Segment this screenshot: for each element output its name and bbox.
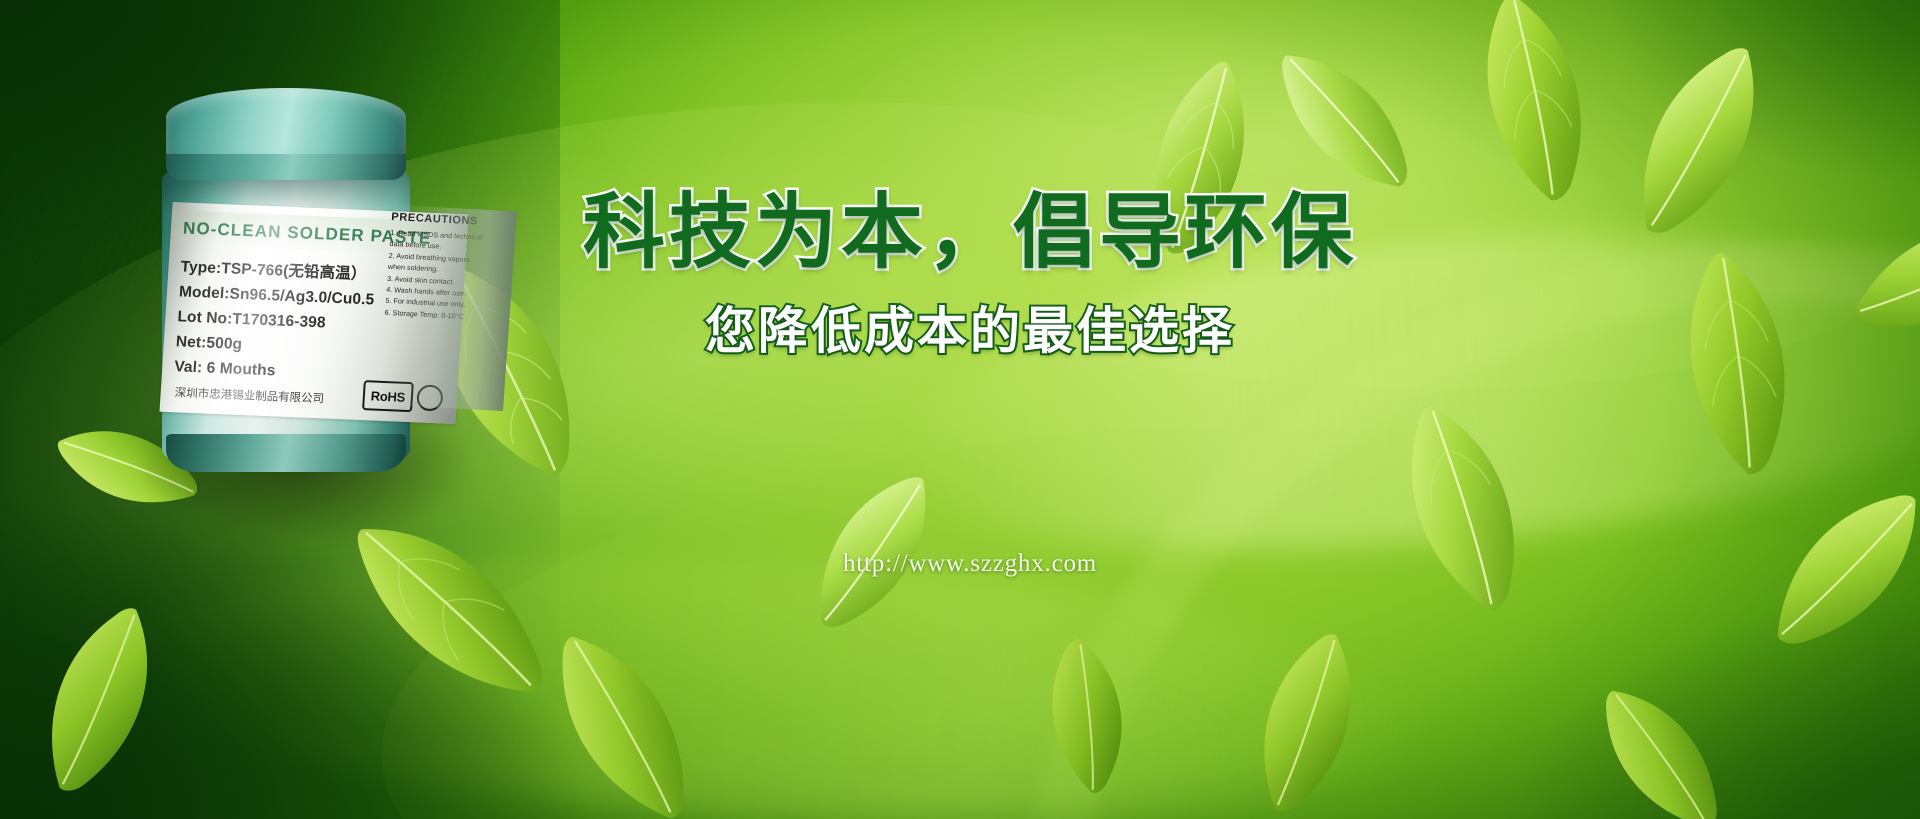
- jar-bottom: [166, 434, 406, 472]
- page-title: 科技为本，倡导环保: [560, 190, 1380, 275]
- promotional-banner: NO-CLEAN SOLDER PASTE Type:TSP-766(无铅高温）…: [0, 0, 1920, 819]
- recycle-circle-icon: [416, 384, 444, 411]
- rohs-badge: RoHS: [362, 380, 414, 412]
- page-subtitle: 您降低成本的最佳选择: [560, 291, 1380, 363]
- website-url[interactable]: http://www.szzghx.com: [560, 550, 1380, 578]
- precautions-block: PRECAUTIONS 1. Read MSDS and technical d…: [384, 211, 511, 324]
- jar-lid-rim: [166, 154, 406, 180]
- leaf-icon: [1032, 631, 1144, 800]
- product-jar: NO-CLEAN SOLDER PASTE Type:TSP-766(无铅高温）…: [152, 88, 452, 488]
- banner-copy: 科技为本，倡导环保 您降低成本的最佳选择: [560, 190, 1380, 363]
- precautions-list: 1. Read MSDS and technical data before u…: [384, 227, 510, 324]
- label-company-name: 深圳市忠港锡业制品有限公司: [174, 384, 385, 409]
